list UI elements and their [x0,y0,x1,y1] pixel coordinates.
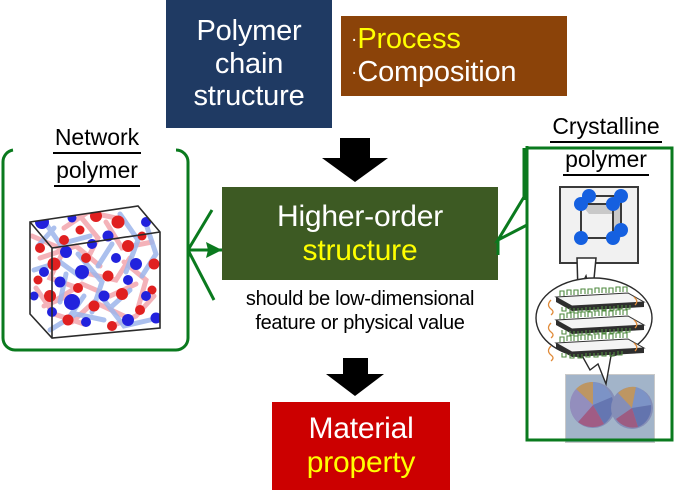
box-higher-line-2: structure [303,234,418,268]
box-higher-line-1: Higher-order [277,200,443,234]
arrow-left-icon-right [498,192,527,240]
composition-label: Composition [357,56,516,88]
illustration-network-polymer-simulation [20,192,168,344]
illustration-spherulite-micrograph [565,374,655,443]
unit-cell-svg [561,188,637,262]
box-material-line-1: Material [308,412,413,446]
label-crystalline-line-2: polymer [563,146,649,176]
process-label: Process [357,23,460,55]
spherulite-svg [566,375,654,442]
callout-tail-unitcell [577,258,596,300]
green-connector-left-upper [188,210,212,250]
callout-ellipse-lamellae [536,278,652,358]
box-chain-line-2: chain [215,48,283,81]
label-crystalline-polymer: Crystalline polymer [527,113,685,179]
box-higher-order-structure: Higher-order structure [222,187,498,280]
label-network-polymer: Network polymer [22,124,172,190]
box-chain-line-3: structure [193,80,304,113]
box-polymer-chain-structure: Polymer chain structure [166,0,332,128]
network-sim-svg [20,192,168,344]
diagram-root: Polymer chain structure ·Process ·Compos… [0,0,685,492]
down-arrow-icon-bottom [326,358,384,396]
illustration-lamellar-stack [549,287,645,361]
caption-low-dimensional: should be low-dimensional feature or phy… [200,288,520,335]
box-material-property: Material property [272,402,450,490]
network-chains [30,210,162,331]
illustration-unit-cell [559,186,639,264]
arrow-right-head-left [206,242,222,258]
caption-line-2: feature or physical value [200,312,520,336]
box-material-line-2: property [307,446,415,480]
label-network-line-1: Network [53,124,141,154]
down-arrow-icon-top [322,138,388,182]
label-crystalline-line-1: Crystalline [550,113,661,143]
box-process-composition: ·Process ·Composition [341,16,567,96]
caption-line-1: should be low-dimensional [200,288,520,312]
label-network-line-2: polymer [54,157,140,187]
process-item: ·Process [351,23,461,56]
box-chain-line-1: Polymer [197,15,302,48]
composition-item: ·Composition [351,56,516,89]
